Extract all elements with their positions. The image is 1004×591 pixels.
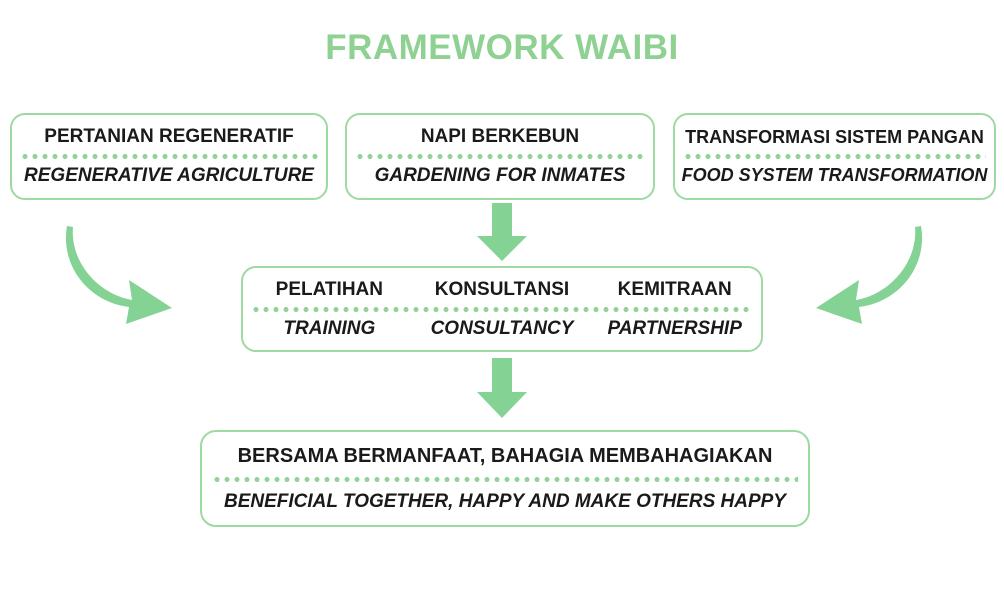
service-label-id: PELATIHAN (243, 279, 416, 301)
services-labels-en-row: TRAINING CONSULTANCY PARTNERSHIP (243, 318, 761, 340)
service-column-training-en: TRAINING (243, 318, 416, 340)
service-column-consultancy: KONSULTANSI (416, 279, 589, 301)
dotted-divider (355, 154, 645, 159)
pillar-label-en: GARDENING FOR INMATES (347, 165, 653, 187)
arrow-curve-left-icon (60, 212, 180, 322)
service-label-en: TRAINING (243, 318, 416, 340)
pillar-box-gardening-for-inmates: NAPI BERKEBUN GARDENING FOR INMATES (345, 113, 655, 200)
pillar-label-en: REGENERATIVE AGRICULTURE (12, 165, 326, 187)
pillar-label-id: NAPI BERKEBUN (347, 126, 653, 148)
motto-box: BERSAMA BERMANFAAT, BAHAGIA MEMBAHAGIAKA… (200, 430, 810, 527)
dotted-divider (20, 154, 318, 159)
dotted-divider (683, 154, 986, 159)
service-column-training: PELATIHAN (243, 279, 416, 301)
pillar-label-id: PERTANIAN REGENERATIF (12, 126, 326, 148)
framework-diagram: FRAMEWORK WAIBI PERTANIAN REGENERATIF RE… (0, 0, 1004, 591)
pillar-label-id: TRANSFORMASI SISTEM PANGAN (675, 127, 994, 148)
services-labels-id-row: PELATIHAN KONSULTANSI KEMITRAAN (243, 279, 761, 301)
pillar-box-regenerative-agriculture: PERTANIAN REGENERATIF REGENERATIVE AGRIC… (10, 113, 328, 200)
service-label-id: KEMITRAAN (588, 279, 761, 301)
services-box: PELATIHAN KONSULTANSI KEMITRAAN TRAINING… (241, 266, 763, 352)
page-title: FRAMEWORK WAIBI (0, 28, 1004, 68)
service-column-partnership-en: PARTNERSHIP (588, 318, 761, 340)
pillar-label-en: FOOD SYSTEM TRANSFORMATION (675, 165, 994, 186)
service-column-partnership: KEMITRAAN (588, 279, 761, 301)
service-label-id: KONSULTANSI (416, 279, 589, 301)
service-label-en: PARTNERSHIP (588, 318, 761, 340)
dotted-divider (212, 477, 798, 482)
arrow-down-middle-icon (470, 358, 534, 420)
service-label-en: CONSULTANCY (416, 318, 589, 340)
motto-label-en: BENEFICIAL TOGETHER, HAPPY AND MAKE OTHE… (202, 491, 808, 513)
arrow-down-top-icon (470, 203, 534, 263)
arrow-curve-right-icon (808, 212, 928, 322)
motto-label-id: BERSAMA BERMANFAAT, BAHAGIA MEMBAHAGIAKA… (202, 445, 808, 468)
dotted-divider (251, 307, 753, 312)
pillar-box-food-system-transformation: TRANSFORMASI SISTEM PANGAN FOOD SYSTEM T… (673, 113, 996, 200)
service-column-consultancy-en: CONSULTANCY (416, 318, 589, 340)
